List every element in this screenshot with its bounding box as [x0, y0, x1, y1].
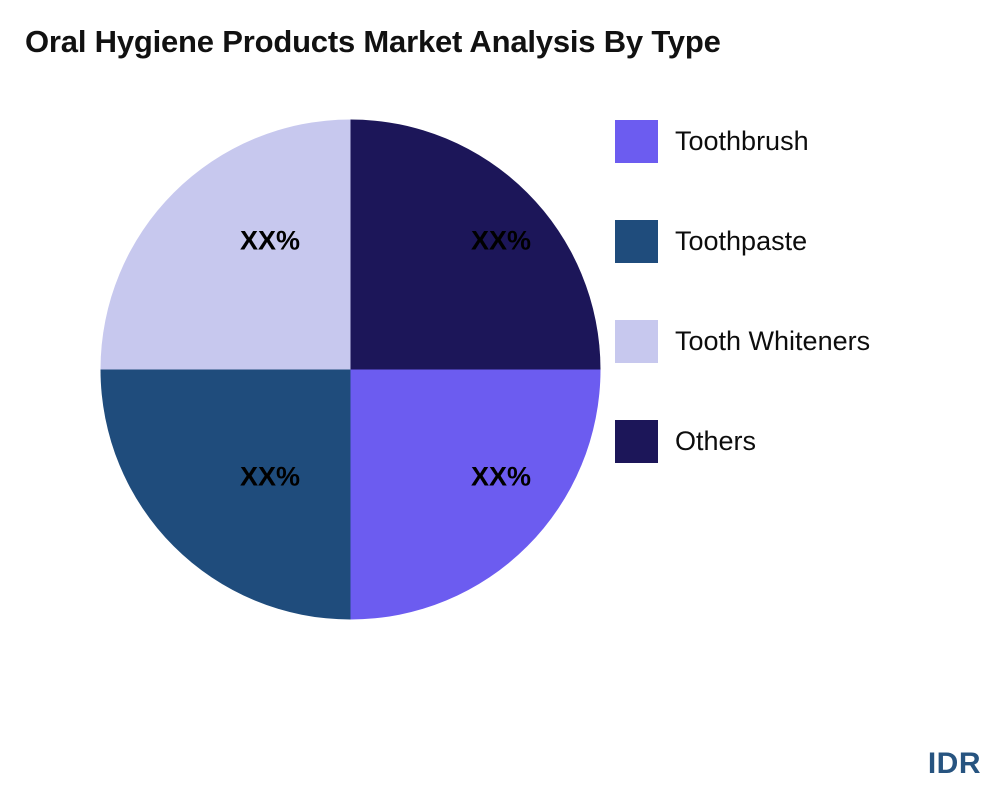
idr-watermark-logo: IDR — [928, 747, 981, 781]
legend-item-toothpaste[interactable]: Toothpaste — [615, 220, 985, 263]
pie-chart-svg — [100, 119, 601, 620]
chart-legend: Toothbrush Toothpaste Tooth Whiteners Ot… — [615, 120, 985, 463]
legend-item-label: Tooth Whiteners — [675, 328, 870, 355]
pie-slice-others[interactable] — [351, 120, 601, 370]
legend-swatch-icon — [615, 320, 658, 363]
legend-swatch-icon — [615, 220, 658, 263]
legend-item-label: Toothpaste — [675, 228, 807, 255]
legend-swatch-icon — [615, 420, 658, 463]
legend-item-others[interactable]: Others — [615, 420, 985, 463]
pie-slice-toothbrush[interactable] — [351, 370, 601, 620]
legend-item-label: Toothbrush — [675, 128, 809, 155]
legend-swatch-icon — [615, 120, 658, 163]
legend-item-toothbrush[interactable]: Toothbrush — [615, 120, 985, 163]
pie-slice-tooth-whiteners[interactable] — [101, 120, 351, 370]
pie-chart: XX% XX% XX% XX% — [100, 119, 601, 620]
legend-item-tooth-whiteners[interactable]: Tooth Whiteners — [615, 320, 985, 363]
legend-item-label: Others — [675, 428, 756, 455]
pie-slice-toothpaste[interactable] — [101, 370, 351, 620]
page-title: Oral Hygiene Products Market Analysis By… — [25, 24, 721, 60]
